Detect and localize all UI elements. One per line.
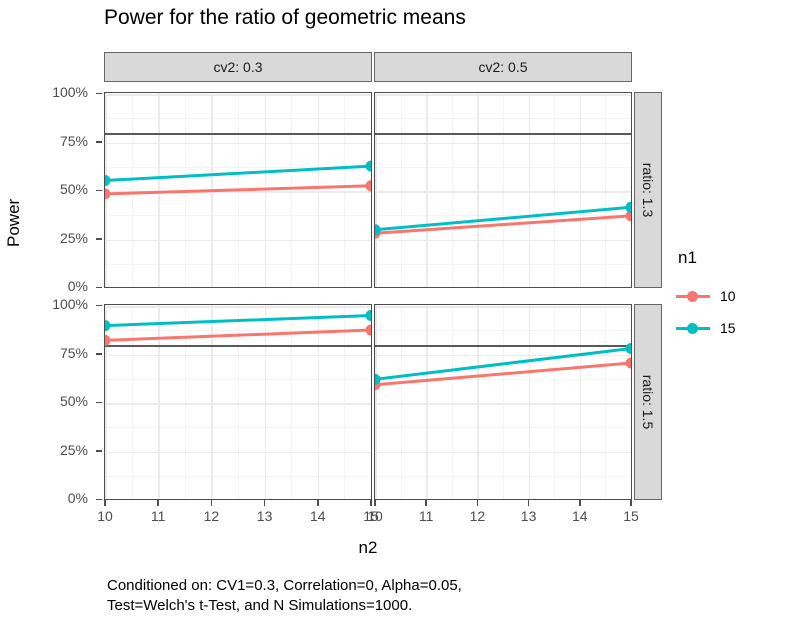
legend-title: n1 [676, 248, 736, 268]
y-tick-label: 50% [28, 393, 88, 409]
y-tick-mark [96, 190, 102, 192]
y-tick-mark [96, 353, 102, 355]
facet-strip-row-ratio-1-3: ratio: 1.3 [634, 92, 662, 288]
chart-caption: Conditioned on: CV1=0.3, Correlation=0, … [107, 576, 462, 616]
y-tick-label: 0% [28, 490, 88, 506]
legend-item-10[interactable]: 10 [676, 280, 736, 312]
caption-line-2: Test=Welch's t-Test, and N Simulations=1… [107, 596, 462, 616]
x-tick-mark [374, 500, 376, 506]
chart-plot-area: cv2: 0.3 cv2: 0.5 ratio: 1.3 ratio: 1.5 … [0, 0, 800, 640]
data-point-n1-15 [366, 310, 373, 321]
x-tick-mark [157, 500, 159, 506]
y-tick-label: 50% [28, 181, 88, 197]
facet-strip-column-cv2-0-5: cv2: 0.5 [374, 52, 632, 82]
y-tick-label: 75% [28, 345, 88, 361]
x-tick-label: 13 [509, 508, 549, 524]
data-point-n1-15 [626, 343, 633, 354]
y-tick-label: 100% [28, 84, 88, 100]
x-tick-mark [579, 500, 581, 506]
legend-item-label: 15 [720, 320, 736, 336]
facet-strip-column-cv2-0-3: cv2: 0.3 [104, 52, 372, 82]
x-tick-label: 14 [298, 508, 338, 524]
panel-cv2-0-3-ratio-1-5 [104, 304, 372, 500]
y-tick-mark [96, 287, 102, 289]
facet-strip-row-label: ratio: 1.3 [640, 163, 656, 217]
series-line-n1-10 [105, 186, 371, 194]
data-point-n1-10 [366, 180, 373, 191]
data-point-n1-15 [104, 175, 111, 186]
x-tick-mark [370, 500, 372, 506]
series-line-n1-15 [105, 166, 371, 180]
y-tick-label: 25% [28, 442, 88, 458]
facet-strip-row-label: ratio: 1.5 [640, 375, 656, 429]
x-tick-label: 13 [245, 508, 285, 524]
series-layer [105, 305, 371, 499]
x-tick-label: 10 [85, 508, 125, 524]
data-point-n1-15 [366, 161, 373, 172]
series-layer [375, 305, 631, 499]
x-tick-mark [264, 500, 266, 506]
x-tick-mark [425, 500, 427, 506]
series-layer [375, 93, 631, 287]
x-tick-mark [630, 500, 632, 506]
series-layer [105, 93, 371, 287]
gridline-major-vertical [631, 93, 632, 287]
y-tick-mark [96, 499, 102, 501]
legend: n1 10 15 [676, 248, 736, 344]
y-tick-label: 25% [28, 230, 88, 246]
y-tick-mark [96, 450, 102, 452]
y-tick-mark [96, 141, 102, 143]
facet-strip-column-label: cv2: 0.3 [213, 59, 262, 75]
panel-cv2-0-5-ratio-1-3 [374, 92, 632, 288]
x-tick-label: 10 [355, 508, 395, 524]
legend-item-15[interactable]: 15 [676, 312, 736, 344]
x-tick-mark [317, 500, 319, 506]
y-tick-mark [96, 402, 102, 404]
x-tick-label: 15 [611, 508, 651, 524]
x-axis-title: n2 [104, 538, 632, 558]
x-tick-label: 12 [191, 508, 231, 524]
x-tick-mark [211, 500, 213, 506]
x-tick-label: 14 [560, 508, 600, 524]
y-axis-title: Power [4, 199, 24, 247]
y-tick-label: 100% [28, 296, 88, 312]
x-tick-mark [477, 500, 479, 506]
y-tick-mark [96, 93, 102, 95]
series-line-n1-10 [105, 330, 371, 340]
facet-strip-column-label: cv2: 0.5 [478, 59, 527, 75]
x-tick-mark [528, 500, 530, 506]
data-point-n1-15 [104, 320, 111, 331]
data-point-n1-10 [366, 325, 373, 336]
data-point-n1-15 [626, 202, 633, 213]
panel-cv2-0-3-ratio-1-3 [104, 92, 372, 288]
y-tick-label: 0% [28, 278, 88, 294]
gridline-major-vertical [371, 305, 372, 499]
gridline-major-vertical [631, 305, 632, 499]
x-tick-mark [104, 500, 106, 506]
legend-key-icon-15 [676, 317, 710, 339]
data-point-n1-10 [104, 188, 111, 199]
data-point-n1-10 [626, 358, 633, 369]
gridline-major-vertical [371, 93, 372, 287]
y-tick-label: 75% [28, 133, 88, 149]
panel-cv2-0-5-ratio-1-5 [374, 304, 632, 500]
facet-strip-row-ratio-1-5: ratio: 1.5 [634, 304, 662, 500]
x-tick-label: 11 [406, 508, 446, 524]
data-point-n1-10 [104, 335, 111, 346]
series-line-n1-15 [105, 316, 371, 326]
legend-item-label: 10 [720, 288, 736, 304]
legend-key-icon-10 [676, 285, 710, 307]
y-tick-mark [96, 305, 102, 307]
y-tick-mark [96, 238, 102, 240]
x-tick-label: 12 [457, 508, 497, 524]
x-tick-label: 11 [138, 508, 178, 524]
caption-line-1: Conditioned on: CV1=0.3, Correlation=0, … [107, 576, 462, 596]
